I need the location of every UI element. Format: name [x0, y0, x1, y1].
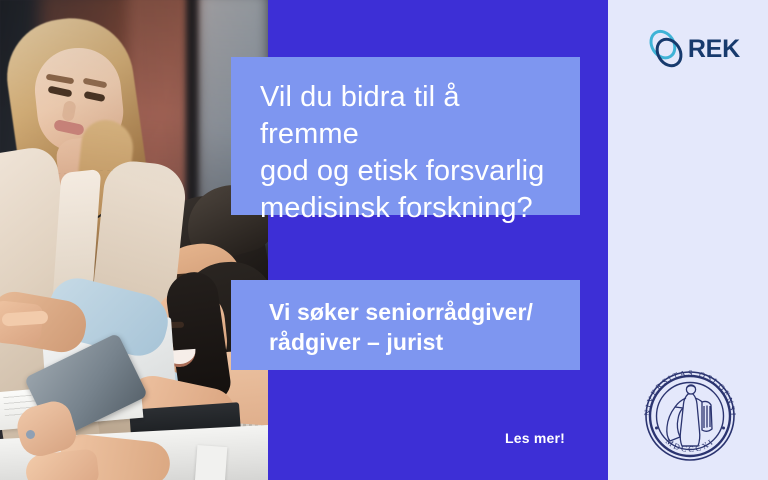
team-photo	[0, 0, 268, 480]
job-title-text: Vi søker seniorrådgiver/ rådgiver – juri…	[269, 297, 569, 357]
job-title-line-1: Vi søker seniorrådgiver/	[269, 297, 569, 327]
apollo-figure	[667, 385, 712, 446]
job-title-box: Vi søker seniorrådgiver/ rådgiver – juri…	[231, 280, 580, 370]
headline-line-3: medisinsk forskning?	[260, 190, 560, 227]
recruitment-banner: Vil du bidra til å fremme god og etisk f…	[0, 0, 768, 480]
rek-logo[interactable]: REK	[648, 26, 740, 72]
headline-line-1: Vil du bidra til å fremme	[260, 79, 560, 153]
rek-wordmark: REK	[688, 37, 740, 62]
uio-seal: UNIVERSITAS OSLOENSIS MDCCCXI	[636, 362, 744, 470]
rek-rings-icon	[648, 26, 685, 72]
headline-text: Vil du bidra til å fremme god og etisk f…	[260, 79, 560, 227]
photo-vignette	[0, 0, 268, 480]
job-title-line-2: rådgiver – jurist	[269, 327, 569, 357]
headline-line-2: god og etisk forsvarlig	[260, 153, 560, 190]
headline-box: Vil du bidra til å fremme god og etisk f…	[231, 57, 580, 215]
photo-canvas	[0, 0, 268, 480]
read-more-link[interactable]: Les mer!	[505, 430, 565, 446]
uio-seal-icon: UNIVERSITAS OSLOENSIS MDCCCXI	[636, 362, 744, 470]
